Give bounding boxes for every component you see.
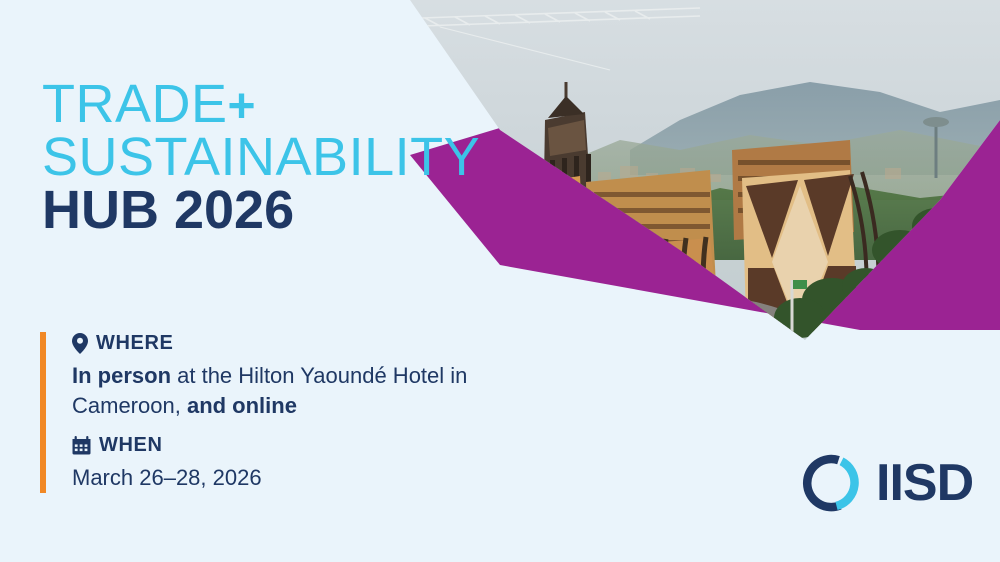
iisd-wordmark: IISD xyxy=(876,457,973,509)
iisd-ring-icon xyxy=(800,452,862,514)
where-group: WHERE In person at the Hilton Yaoundé Ho… xyxy=(72,332,542,420)
title-line-1: TRADE+ xyxy=(42,78,480,131)
map-pin-icon xyxy=(72,333,88,354)
where-text-bold-2: and online xyxy=(187,393,297,418)
title-sustainability: SUSTAINABILITY xyxy=(42,131,480,184)
when-label: WHEN xyxy=(99,434,163,457)
when-group: WHEN March 26–28, 2026 xyxy=(72,434,542,493)
iisd-logo: IISD xyxy=(800,452,973,514)
event-promo-banner: TRADE+ SUSTAINABILITY HUB 2026 WHERE In … xyxy=(0,0,1000,562)
when-text: March 26–28, 2026 xyxy=(72,463,542,493)
event-details: WHERE In person at the Hilton Yaoundé Ho… xyxy=(40,332,542,493)
where-heading: WHERE xyxy=(72,332,542,355)
when-heading: WHEN xyxy=(72,434,542,457)
page-title: TRADE+ SUSTAINABILITY HUB 2026 xyxy=(42,78,480,237)
where-text-bold-1: In person xyxy=(72,363,171,388)
where-text: In person at the Hilton Yaoundé Hotel in… xyxy=(72,361,542,420)
where-label: WHERE xyxy=(96,332,173,355)
title-plus: + xyxy=(228,80,257,133)
title-hub-year: HUB 2026 xyxy=(42,184,480,237)
calendar-icon xyxy=(72,436,91,455)
title-trade: TRADE xyxy=(42,74,228,134)
